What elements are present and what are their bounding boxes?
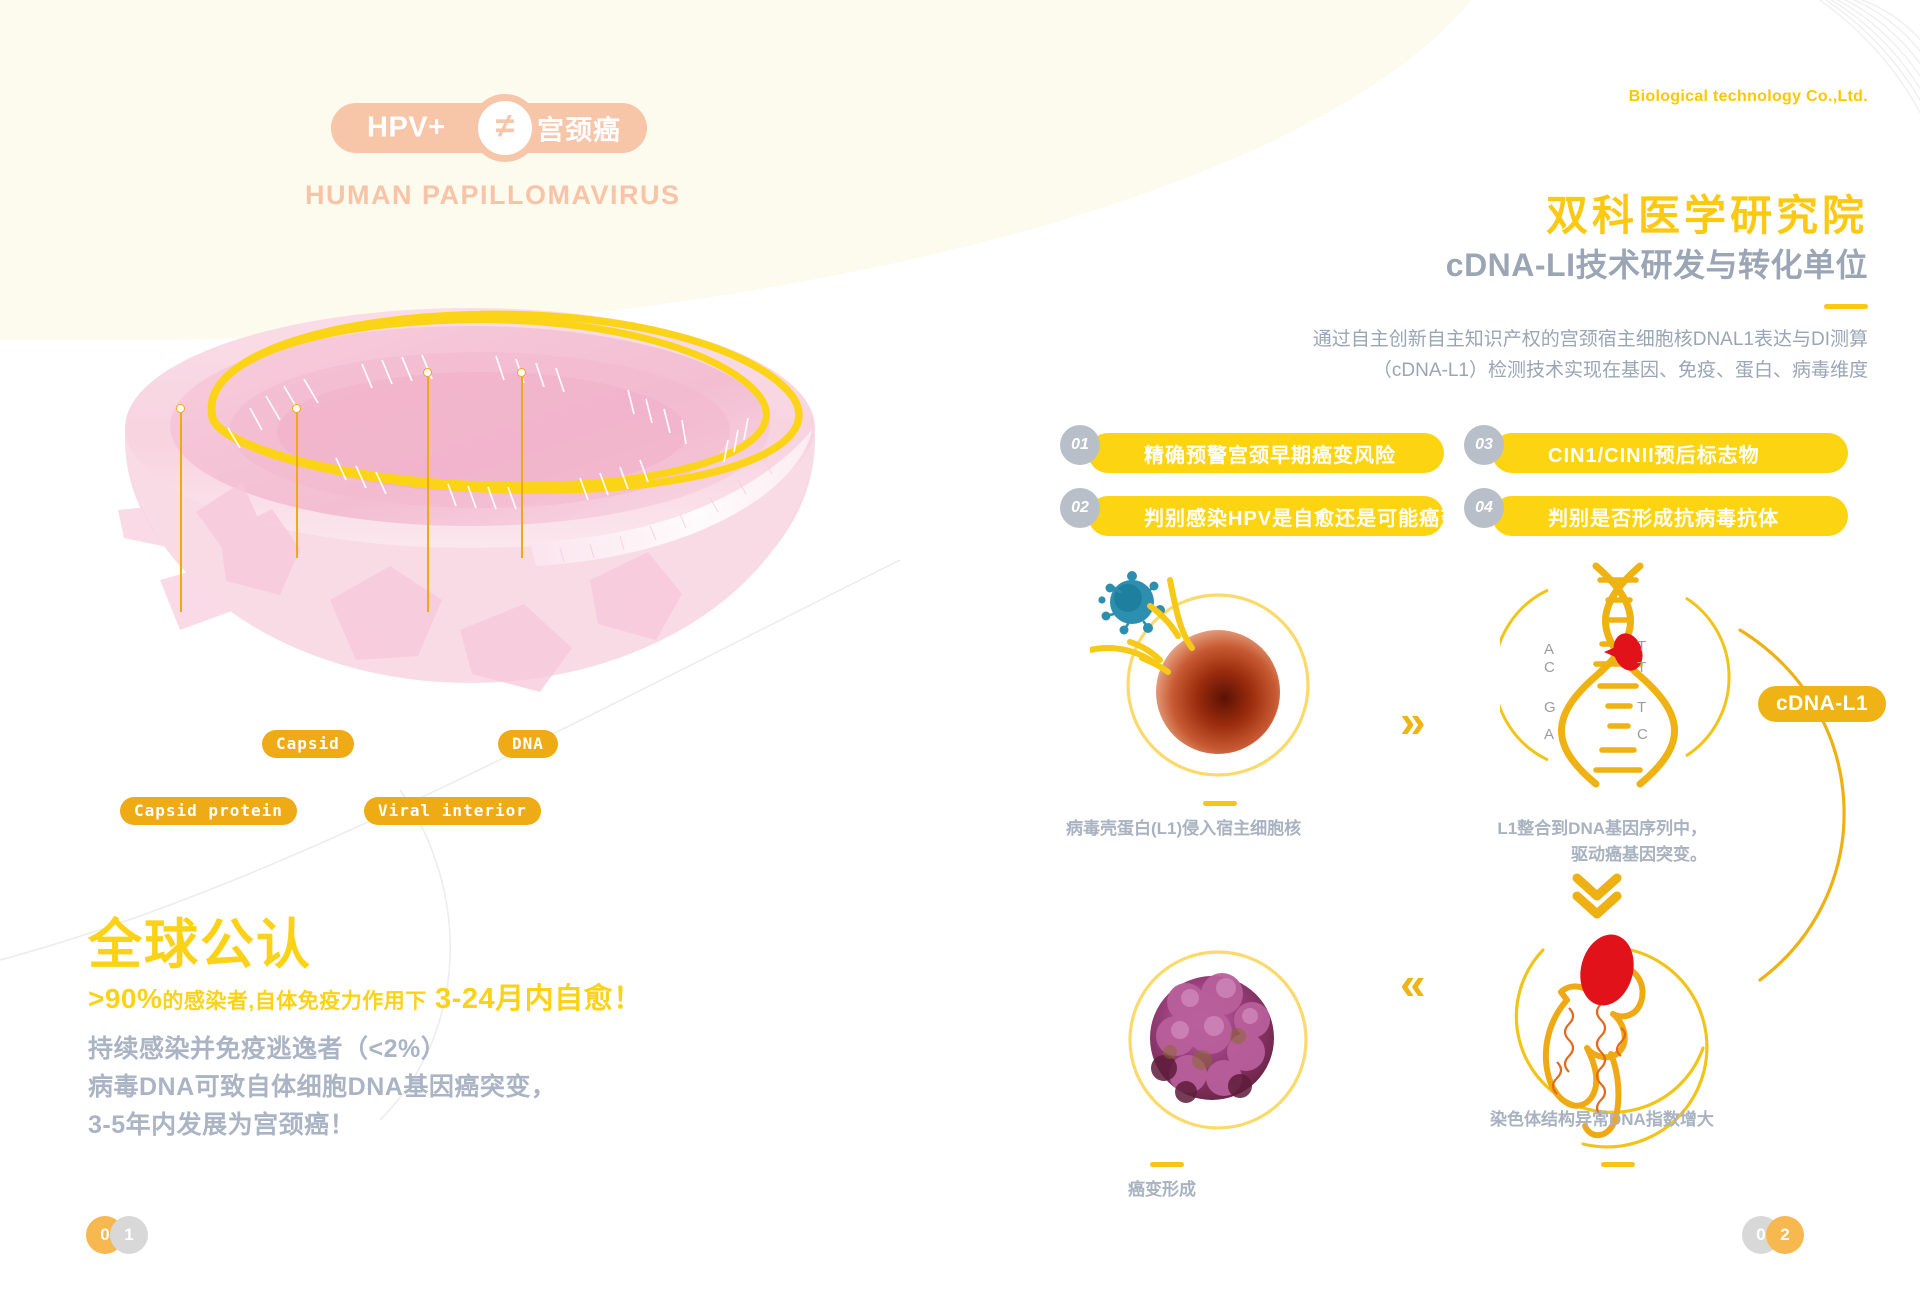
hpv-badge: HPV+ ≠ 宫颈癌 (331, 103, 647, 153)
connector-line-dna (521, 377, 523, 558)
step2-caption: L1整合到DNA基因序列中， 驱动癌基因突变。 (1487, 816, 1707, 867)
step2-caption-line-1: L1整合到DNA基因序列中， (1487, 816, 1707, 842)
connector-dot-capsid-protein (176, 404, 185, 413)
feature-label-04: 判别是否形成抗病毒抗体 (1548, 502, 1779, 531)
step2-illustration (1500, 560, 1770, 790)
step3-caption-dash (1601, 1162, 1635, 1167)
hpv-subtitle: HUMAN PAPILLOMAVIRUS (305, 180, 681, 211)
institute-description-line-2: （cDNA-L1）检测技术实现在基因、免疫、蛋白、病毒维度 (1313, 356, 1868, 387)
infographic-page: HPV+ ≠ 宫颈癌 HUMAN PAPILLOMAVIRUS (0, 0, 1920, 1303)
global-body: 持续感染并免疫逃逸者（<2%） 病毒DNA可致自体细胞DNA基因癌突变， 3-5… (88, 1030, 556, 1144)
feature-label-03: CIN1/CINII预后标志物 (1548, 439, 1760, 468)
not-equal-icon: ≠ (471, 94, 539, 162)
nucleotide-right-T2: T (1637, 659, 1646, 676)
page-number-right: 0 2 (1742, 1216, 1854, 1258)
page-number-left-digit1: 1 (110, 1216, 148, 1254)
step1-caption-dash (1203, 801, 1237, 806)
feature-bar-02: 判别感染HPV是自愈还是可能癌变 (1088, 496, 1444, 536)
feature-number-03: 03 (1464, 425, 1504, 465)
global-body-line-2: 病毒DNA可致自体细胞DNA基因癌突变， (88, 1068, 556, 1106)
label-capsid-protein: Capsid protein (120, 797, 297, 825)
hpv-badge-right-label: 宫颈癌 (537, 109, 621, 148)
connector-dot-viral-interior (423, 368, 432, 377)
feature-bar-01: 精确预警宫颈早期癌变风险 (1088, 433, 1444, 473)
label-viral-interior: Viral interior (364, 797, 541, 825)
chevron-down-icon (1567, 870, 1627, 922)
nucleotide-left-A2: A (1544, 726, 1554, 743)
right-page: Biological technology Co.,Ltd. 双科医学研究院 c… (1040, 0, 1920, 1303)
connector-line-capsid (296, 413, 298, 558)
institute-description: 通过自主创新自主知识产权的宫颈宿主细胞核DNAL1表达与DI测算 （cDNA-L… (1313, 325, 1868, 387)
institute-title: 双科医学研究院 (1546, 182, 1868, 243)
institute-description-line-1: 通过自主创新自主知识产权的宫颈宿主细胞核DNAL1表达与DI测算 (1313, 325, 1868, 356)
feature-bar-03: CIN1/CINII预后标志物 (1492, 433, 1848, 473)
global-body-line-3: 3-5年内发展为宫颈癌！ (88, 1106, 556, 1144)
global-subtitle: >90%的感染者,自体免疫力作用下 3-24月内自愈！ (88, 975, 643, 1017)
global-percent: >90% (88, 983, 162, 1014)
global-subtitle-end: 3-24月内自愈！ (435, 983, 643, 1015)
feature-label-01: 精确预警宫颈早期癌变风险 (1144, 439, 1396, 468)
step4-illustration (1090, 928, 1350, 1158)
step1-caption: 病毒壳蛋白(L1)侵入宿主细胞核 (1066, 816, 1301, 842)
connector-dot-dna (517, 368, 526, 377)
feature-number-01: 01 (1060, 425, 1100, 465)
process-flow-diagram: 病毒壳蛋白(L1)侵入宿主细胞核 » (1040, 560, 1920, 1200)
title-rule-divider (1824, 304, 1868, 309)
nucleotide-right-C: C (1637, 726, 1648, 743)
chevron-right-icon: » (1400, 698, 1426, 744)
nucleotide-left-C: C (1544, 659, 1555, 676)
feature-number-02: 02 (1060, 488, 1100, 528)
step4-caption-dash (1150, 1162, 1184, 1167)
not-equal-glyph: ≠ (496, 109, 515, 143)
global-body-line-1: 持续感染并免疫逃逸者（<2%） (88, 1030, 556, 1068)
connector-dot-capsid (292, 404, 301, 413)
chevron-left-icon: « (1400, 960, 1426, 1006)
nucleotide-right-T1: T (1637, 638, 1646, 655)
step2-caption-line-2: 驱动癌基因突变。 (1487, 842, 1707, 868)
global-subtitle-mid: 的感染者,自体免疫力作用下 (162, 990, 426, 1013)
nucleotide-left-G: G (1544, 699, 1556, 716)
label-capsid: Capsid (262, 730, 354, 758)
nucleotide-right-T3: T (1637, 699, 1646, 716)
virus-illustration (100, 280, 900, 710)
connector-line-capsid-protein (180, 413, 182, 612)
global-title: 全球公认 (88, 900, 312, 979)
label-dna: DNA (498, 730, 558, 758)
cdna-l1-badge: cDNA-L1 (1758, 686, 1886, 722)
connector-line-viral-interior (427, 377, 429, 612)
feature-bar-04: 判别是否形成抗病毒抗体 (1492, 496, 1848, 536)
page-number-right-digit1: 2 (1766, 1216, 1804, 1254)
left-page: HPV+ ≠ 宫颈癌 HUMAN PAPILLOMAVIRUS (0, 0, 1040, 1303)
step4-caption: 癌变形成 (1128, 1177, 1196, 1203)
step3-caption: 染色体结构异常DNA指数增大 (1490, 1107, 1714, 1133)
step1-illustration (1090, 570, 1350, 800)
hpv-badge-left-label: HPV+ (367, 112, 446, 145)
page-number-left: 0 1 (86, 1216, 198, 1258)
company-tagline: Biological technology Co.,Ltd. (1629, 88, 1868, 106)
feature-number-04: 04 (1464, 488, 1504, 528)
feature-label-02: 判别感染HPV是自愈还是可能癌变 (1144, 502, 1461, 531)
institute-subtitle: cDNA-LI技术研发与转化单位 (1446, 240, 1868, 286)
nucleotide-left-A1: A (1544, 641, 1554, 658)
